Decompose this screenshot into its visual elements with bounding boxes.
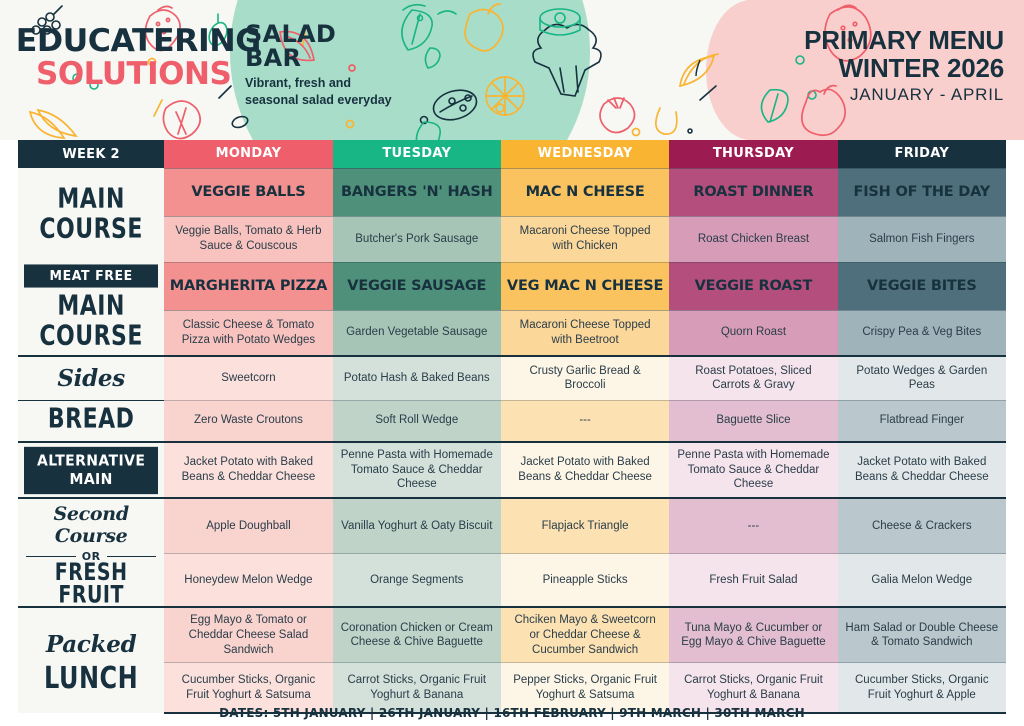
cell-fruit-thursday: Fresh Fruit Salad <box>669 554 837 607</box>
logo-line-1: EDUCATERING <box>16 26 240 57</box>
menu-title-block: PRIMARY MENU WINTER 2026 JANUARY - APRIL <box>804 26 1004 105</box>
label-alternative-main-badge: ALTERNATIVE MAIN <box>24 446 158 493</box>
cell-veg-desc-tuesday: Garden Vegetable Sausage <box>333 310 501 356</box>
row-main-course-titles: MAIN COURSE VEGGIE BALLS BANGERS 'N' HAS… <box>18 168 1006 216</box>
cell-alt-thursday: Penne Pasta with Homemade Tomato Sauce &… <box>669 442 837 498</box>
cell-second-friday: Cheese & Crackers <box>838 498 1006 554</box>
cell-sides-wednesday: Crusty Garlic Bread & Broccoli <box>501 356 669 400</box>
label-bread-text: BREAD <box>24 408 158 434</box>
cell-sides-monday: Sweetcorn <box>164 356 332 400</box>
cell-packed-main-friday: Ham Salad or Double Cheese & Tomato Sand… <box>838 607 1006 663</box>
cell-sides-thursday: Roast Potatoes, Sliced Carrots & Gravy <box>669 356 837 400</box>
cell-main-title-wednesday: MAC N CHEESE <box>501 168 669 216</box>
cell-veg-title-thursday: VEGGIE ROAST <box>669 262 837 310</box>
cell-veg-title-tuesday: VEGGIE SAUSAGE <box>333 262 501 310</box>
label-lunch-text: LUNCH <box>24 664 158 692</box>
menu-title-line3: JANUARY - APRIL <box>804 85 1004 105</box>
day-header-tuesday: TUESDAY <box>333 140 501 168</box>
salad-bar-title: SALAD BAR <box>245 22 395 70</box>
cell-fruit-tuesday: Orange Segments <box>333 554 501 607</box>
cell-veg-title-wednesday: VEG MAC N CHEESE <box>501 262 669 310</box>
cell-veg-desc-thursday: Quorn Roast <box>669 310 837 356</box>
cell-main-title-tuesday: BANGERS 'N' HASH <box>333 168 501 216</box>
cell-veg-title-friday: VEGGIE BITES <box>838 262 1006 310</box>
cell-second-thursday: --- <box>669 498 837 554</box>
row-alternative-main: ALTERNATIVE MAIN Jacket Potato with Bake… <box>18 442 1006 498</box>
cell-second-tuesday: Vanilla Yoghurt & Oaty Biscuit <box>333 498 501 554</box>
cell-alt-monday: Jacket Potato with Baked Beans & Cheddar… <box>164 442 332 498</box>
cell-veg-title-monday: MARGHERITA PIZZA <box>164 262 332 310</box>
label-main-course-line2: COURSE <box>24 217 158 243</box>
cell-bread-tuesday: Soft Roll Wedge <box>333 400 501 442</box>
label-sides-text: Sides <box>24 365 158 392</box>
row-sides: Sides Sweetcorn Potato Hash & Baked Bean… <box>18 356 1006 400</box>
or-line-right <box>107 556 157 558</box>
label-meatfree-line2: COURSE <box>24 324 158 350</box>
label-packed-text: Packed <box>24 631 158 658</box>
cell-bread-friday: Flatbread Finger <box>838 400 1006 442</box>
cell-packed-main-thursday: Tuna Mayo & Cucumber or Egg Mayo & Chive… <box>669 607 837 663</box>
label-packed-lunch: Packed LUNCH <box>18 607 164 713</box>
day-header-friday: FRIDAY <box>838 140 1006 168</box>
cell-packed-main-monday: Egg Mayo & Tomato or Cheddar Cheese Sala… <box>164 607 332 663</box>
cell-alt-friday: Jacket Potato with Baked Beans & Cheddar… <box>838 442 1006 498</box>
cell-second-wednesday: Flapjack Triangle <box>501 498 669 554</box>
cell-main-title-monday: VEGGIE BALLS <box>164 168 332 216</box>
cell-fruit-friday: Galia Melon Wedge <box>838 554 1006 607</box>
logo-line-2: SOLUTIONS <box>36 59 238 90</box>
cell-main-title-friday: FISH OF THE DAY <box>838 168 1006 216</box>
cell-main-title-thursday: ROAST DINNER <box>669 168 837 216</box>
label-main-course: MAIN COURSE <box>18 168 164 262</box>
label-second-course: Second Course OR FRESH FRUIT <box>18 498 164 607</box>
row-packed-lunch-main: Packed LUNCH Egg Mayo & Tomato or Chedda… <box>18 607 1006 663</box>
brand-logo: EDUCATERING SOLUTIONS <box>18 26 238 90</box>
label-main-course-line1: MAIN <box>24 187 158 213</box>
day-header-monday: MONDAY <box>164 140 332 168</box>
day-header-wednesday: WEDNESDAY <box>501 140 669 168</box>
cell-veg-desc-monday: Classic Cheese & Tomato Pizza with Potat… <box>164 310 332 356</box>
cell-veg-desc-wednesday: Macaroni Cheese Topped with Beetroot <box>501 310 669 356</box>
salad-bar-block: SALAD BAR Vibrant, fresh and seasonal sa… <box>245 22 395 108</box>
row-meatfree-descs: Classic Cheese & Tomato Pizza with Potat… <box>18 310 1006 356</box>
row-fresh-fruit: Honeydew Melon Wedge Orange Segments Pin… <box>18 554 1006 607</box>
cell-fruit-monday: Honeydew Melon Wedge <box>164 554 332 607</box>
cell-bread-thursday: Baguette Slice <box>669 400 837 442</box>
label-meat-free-main-course: MEAT FREE MAIN COURSE <box>18 262 164 356</box>
cell-packed-main-wednesday: Chciken Mayo & Sweetcorn or Cheddar Chee… <box>501 607 669 663</box>
salad-bar-subtitle: Vibrant, fresh and seasonal salad everyd… <box>245 75 395 108</box>
label-sides: Sides <box>18 356 164 400</box>
menu-table-wrapper: WEEK 2 MONDAY TUESDAY WEDNESDAY THURSDAY… <box>18 140 1006 714</box>
menu-table: WEEK 2 MONDAY TUESDAY WEDNESDAY THURSDAY… <box>18 140 1006 714</box>
label-alt-line2: MAIN <box>69 470 112 488</box>
cell-alt-wednesday: Jacket Potato with Baked Beans & Cheddar… <box>501 442 669 498</box>
label-bread: BREAD <box>18 400 164 442</box>
row-second-course: Second Course OR FRESH FRUIT Apple Dough… <box>18 498 1006 554</box>
cell-sides-friday: Potato Wedges & Garden Peas <box>838 356 1006 400</box>
or-line-left <box>26 556 76 558</box>
label-alt-line1: ALTERNATIVE <box>37 452 145 470</box>
cell-main-desc-tuesday: Butcher's Pork Sausage <box>333 216 501 262</box>
cell-alt-tuesday: Penne Pasta with Homemade Tomato Sauce &… <box>333 442 501 498</box>
cell-sides-tuesday: Potato Hash & Baked Beans <box>333 356 501 400</box>
footer-dates: DATES: 5TH JANUARY | 26TH JANUARY | 16TH… <box>0 700 1024 720</box>
row-meatfree-titles: MEAT FREE MAIN COURSE MARGHERITA PIZZA V… <box>18 262 1006 310</box>
cell-fruit-wednesday: Pineapple Sticks <box>501 554 669 607</box>
label-alternative-main: ALTERNATIVE MAIN <box>18 442 164 498</box>
cell-bread-wednesday: --- <box>501 400 669 442</box>
header-pink-curve <box>706 0 786 140</box>
cell-second-monday: Apple Doughball <box>164 498 332 554</box>
menu-title-line1: PRIMARY MENU <box>804 26 1004 54</box>
cell-veg-desc-friday: Crispy Pea & Veg Bites <box>838 310 1006 356</box>
meat-free-badge: MEAT FREE <box>24 265 158 288</box>
cell-main-desc-wednesday: Macaroni Cheese Topped with Chicken <box>501 216 669 262</box>
label-second-course-text: Second Course <box>24 503 158 547</box>
cell-main-desc-friday: Salmon Fish Fingers <box>838 216 1006 262</box>
row-main-course-descs: Veggie Balls, Tomato & Herb Sauce & Cous… <box>18 216 1006 262</box>
cell-bread-monday: Zero Waste Croutons <box>164 400 332 442</box>
table-header-row: WEEK 2 MONDAY TUESDAY WEDNESDAY THURSDAY… <box>18 140 1006 168</box>
label-fresh-fruit-text: FRESH FRUIT <box>24 562 158 607</box>
cell-main-desc-monday: Veggie Balls, Tomato & Herb Sauce & Cous… <box>164 216 332 262</box>
cell-packed-main-tuesday: Coronation Chicken or Cream Cheese & Chi… <box>333 607 501 663</box>
row-bread: BREAD Zero Waste Croutons Soft Roll Wedg… <box>18 400 1006 442</box>
label-meatfree-line1: MAIN <box>24 294 158 320</box>
page-header: EDUCATERING SOLUTIONS SALAD BAR Vibrant,… <box>0 0 1024 140</box>
day-header-thursday: THURSDAY <box>669 140 837 168</box>
cell-main-desc-thursday: Roast Chicken Breast <box>669 216 837 262</box>
menu-title-line2: WINTER 2026 <box>804 54 1004 82</box>
week-label: WEEK 2 <box>18 140 164 168</box>
